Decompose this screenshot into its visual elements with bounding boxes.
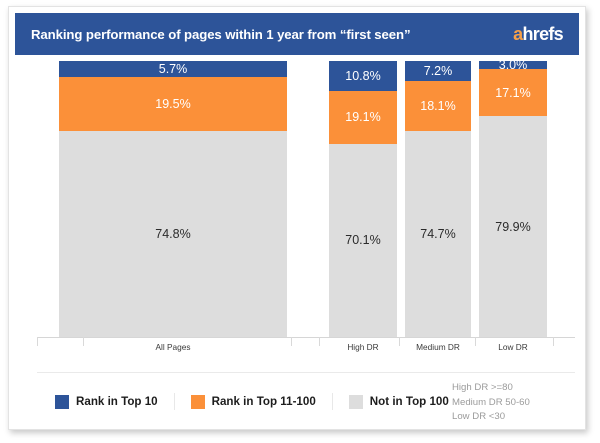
legend-label-top11-100: Rank in Top 11-100: [212, 395, 316, 408]
chart-legend: Rank in Top 10 Rank in Top 11-100 Not in…: [55, 393, 449, 410]
bar-segment-top10[interactable]: 7.2%: [405, 61, 471, 81]
bar-value-label: 3.0%: [499, 61, 528, 69]
bar-group-low-dr[interactable]: 3.0%17.1%79.9%: [479, 61, 547, 337]
bar-segment-top10[interactable]: 3.0%: [479, 61, 547, 69]
axis-tick: [83, 337, 84, 346]
bar-group-high-dr[interactable]: 10.8%19.1%70.1%: [329, 61, 397, 337]
legend-divider: [174, 393, 175, 410]
bar-value-label: 7.2%: [424, 64, 453, 78]
bar-segment-top11-100[interactable]: 17.1%: [479, 69, 547, 116]
bar-value-label: 79.9%: [495, 220, 530, 234]
axis-tick: [37, 337, 38, 346]
ahrefs-logo: ahrefs: [513, 24, 563, 45]
bar-value-label: 19.1%: [345, 110, 380, 124]
logo-text-hrefs: hrefs: [522, 24, 563, 44]
legend-swatch-icon-top10: [55, 395, 69, 409]
bar-segment-not-top100[interactable]: 74.7%: [405, 131, 471, 337]
legend-swatch-icon-not-top100: [349, 395, 363, 409]
bar-segment-not-top100[interactable]: 74.8%: [59, 131, 287, 337]
x-axis-label-low-dr: Low DR: [453, 342, 573, 352]
chart-header: Ranking performance of pages within 1 ye…: [15, 13, 579, 55]
legend-label-not-top100: Not in Top 100: [370, 395, 449, 408]
bar-segment-top11-100[interactable]: 19.5%: [59, 77, 287, 131]
page-title: Ranking performance of pages within 1 ye…: [31, 27, 410, 42]
bar-value-label: 17.1%: [495, 86, 530, 100]
bar-group-all-pages[interactable]: 5.7%19.5%74.8%: [59, 61, 287, 337]
bar-value-label: 19.5%: [155, 97, 190, 111]
axis-tick: [291, 337, 292, 346]
dr-note-high: High DR >=80: [452, 381, 530, 396]
bar-segment-not-top100[interactable]: 79.9%: [479, 116, 547, 337]
bar-segment-not-top100[interactable]: 70.1%: [329, 144, 397, 337]
legend-divider: [332, 393, 333, 410]
bar-value-label: 70.1%: [345, 233, 380, 247]
chart-card: Ranking performance of pages within 1 ye…: [8, 6, 586, 430]
bar-value-label: 10.8%: [345, 69, 380, 83]
legend-item-top11-100[interactable]: Rank in Top 11-100: [191, 395, 316, 409]
bar-segment-top10[interactable]: 5.7%: [59, 61, 287, 77]
bar-segment-top11-100[interactable]: 19.1%: [329, 91, 397, 144]
legend-item-not-top100[interactable]: Not in Top 100: [349, 395, 449, 409]
legend-item-top10[interactable]: Rank in Top 10: [55, 395, 158, 409]
bar-segment-top11-100[interactable]: 18.1%: [405, 81, 471, 131]
legend-label-top10: Rank in Top 10: [76, 395, 158, 408]
bar-value-label: 74.8%: [155, 227, 190, 241]
bar-value-label: 18.1%: [420, 99, 455, 113]
dr-definition-notes: High DR >=80 Medium DR 50-60 Low DR <30: [452, 381, 530, 425]
bar-group-medium-dr[interactable]: 7.2%18.1%74.7%: [405, 61, 471, 337]
dr-note-medium: Medium DR 50-60: [452, 396, 530, 411]
dr-note-low: Low DR <30: [452, 410, 530, 425]
legend-swatch-icon-top11-100: [191, 395, 205, 409]
plot-area: 5.7%19.5%74.8%10.8%19.1%70.1%7.2%18.1%74…: [9, 61, 585, 337]
bar-segment-top10[interactable]: 10.8%: [329, 61, 397, 91]
legend-separator: [37, 372, 575, 373]
bar-value-label: 5.7%: [159, 62, 188, 76]
x-axis-line: [37, 337, 575, 338]
x-axis-label-all-pages: All Pages: [113, 342, 233, 352]
bar-value-label: 74.7%: [420, 227, 455, 241]
